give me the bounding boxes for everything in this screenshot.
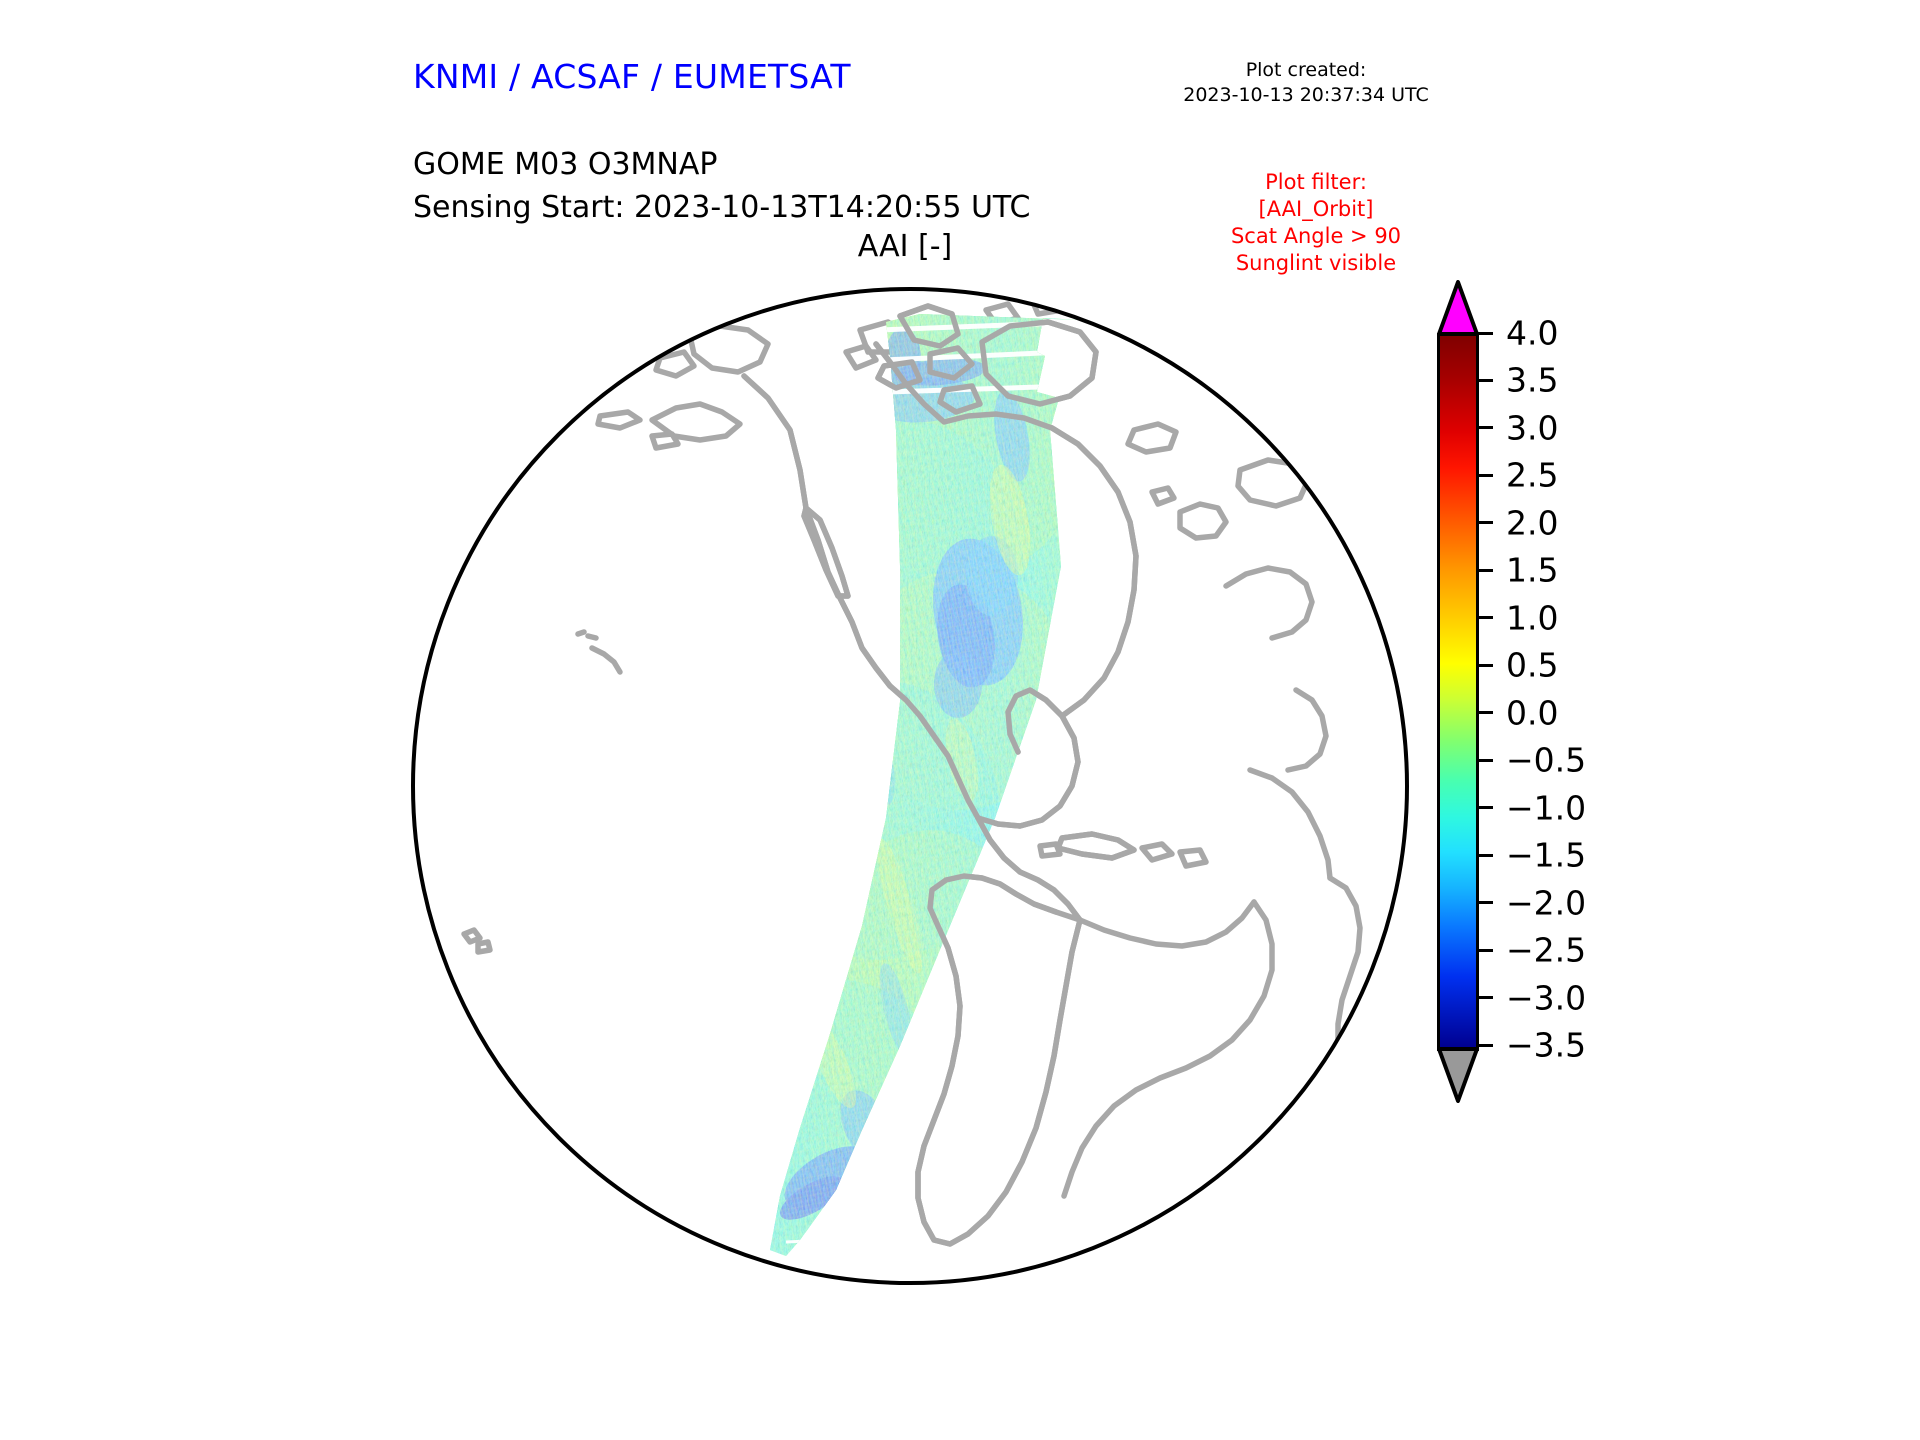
colorbar-tick-label: −2.5 xyxy=(1506,934,1586,967)
colorbar-tick-label: 0.0 xyxy=(1506,696,1558,729)
colorbar-tick-label: −3.5 xyxy=(1506,1029,1586,1062)
colorbar-tick-label: −3.0 xyxy=(1506,981,1586,1014)
colorbar-tick-label: 2.0 xyxy=(1506,506,1558,539)
colorbar-tick-label: 3.5 xyxy=(1506,364,1558,397)
colorbar-tick xyxy=(1476,426,1493,429)
colorbar-tick xyxy=(1476,1044,1493,1047)
colorbar-tick xyxy=(1476,664,1493,667)
colorbar-tick-label: −2.0 xyxy=(1506,886,1586,919)
colorbar-tick xyxy=(1476,949,1493,952)
colorbar-tick-label: −1.0 xyxy=(1506,791,1586,824)
colorbar-tick xyxy=(1476,901,1493,904)
colorbar-tick-label: −0.5 xyxy=(1506,744,1586,777)
colorbar-tick xyxy=(1476,711,1493,714)
colorbar-under-arrow-icon xyxy=(1437,1047,1479,1103)
colorbar-tick-label: 3.0 xyxy=(1506,411,1558,444)
colorbar-tick-label: 0.5 xyxy=(1506,649,1558,682)
colorbar-over-arrow-icon xyxy=(1437,280,1479,336)
colorbar-tick xyxy=(1476,996,1493,999)
colorbar-tick xyxy=(1476,521,1493,524)
colorbar-tick-label: 4.0 xyxy=(1506,317,1558,350)
colorbar-tick-label: 1.0 xyxy=(1506,601,1558,634)
colorbar-tick xyxy=(1476,616,1493,619)
colorbar-gradient xyxy=(1437,333,1479,1051)
colorbar-tick-label: 2.5 xyxy=(1506,459,1558,492)
colorbar-tick xyxy=(1476,379,1493,382)
colorbar-tick xyxy=(1476,806,1493,809)
colorbar-tick xyxy=(1476,569,1493,572)
colorbar-tick xyxy=(1476,332,1493,335)
colorbar-tick xyxy=(1476,759,1493,762)
colorbar-tick xyxy=(1476,474,1493,477)
colorbar: 4.03.53.02.52.01.51.00.50.0−0.5−1.0−1.5−… xyxy=(1430,280,1770,1300)
colorbar-tick-label: −1.5 xyxy=(1506,839,1586,872)
colorbar-tick-label: 1.5 xyxy=(1506,554,1558,587)
colorbar-tick xyxy=(1476,854,1493,857)
